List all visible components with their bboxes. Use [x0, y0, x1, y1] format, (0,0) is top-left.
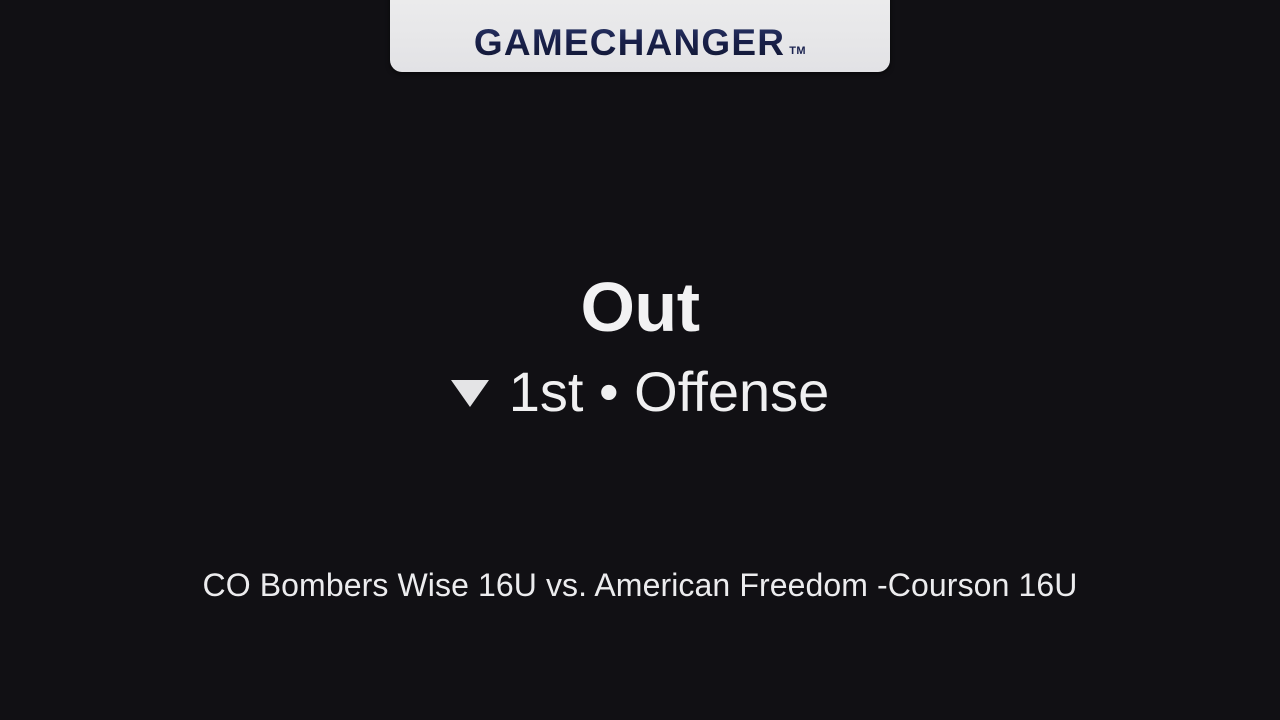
- matchup-caption: CO Bombers Wise 16U vs. American Freedom…: [0, 566, 1280, 604]
- play-result-text: Out: [0, 272, 1280, 342]
- gamechanger-wordmark: GAMECHANGER: [474, 24, 785, 61]
- gamechanger-logo: GAMECHANGER TM: [474, 24, 806, 61]
- play-context-row: 1st • Offense: [0, 364, 1280, 420]
- triangle-down-icon: [451, 380, 489, 407]
- inning-and-side-label: 1st • Offense: [509, 364, 830, 420]
- broadcast-overlay-screen: GAMECHANGER TM Out 1st • Offense CO Bomb…: [0, 0, 1280, 720]
- trademark-symbol: TM: [789, 45, 806, 57]
- gamechanger-brand-panel: GAMECHANGER TM: [390, 0, 890, 72]
- play-result-block: Out 1st • Offense: [0, 272, 1280, 420]
